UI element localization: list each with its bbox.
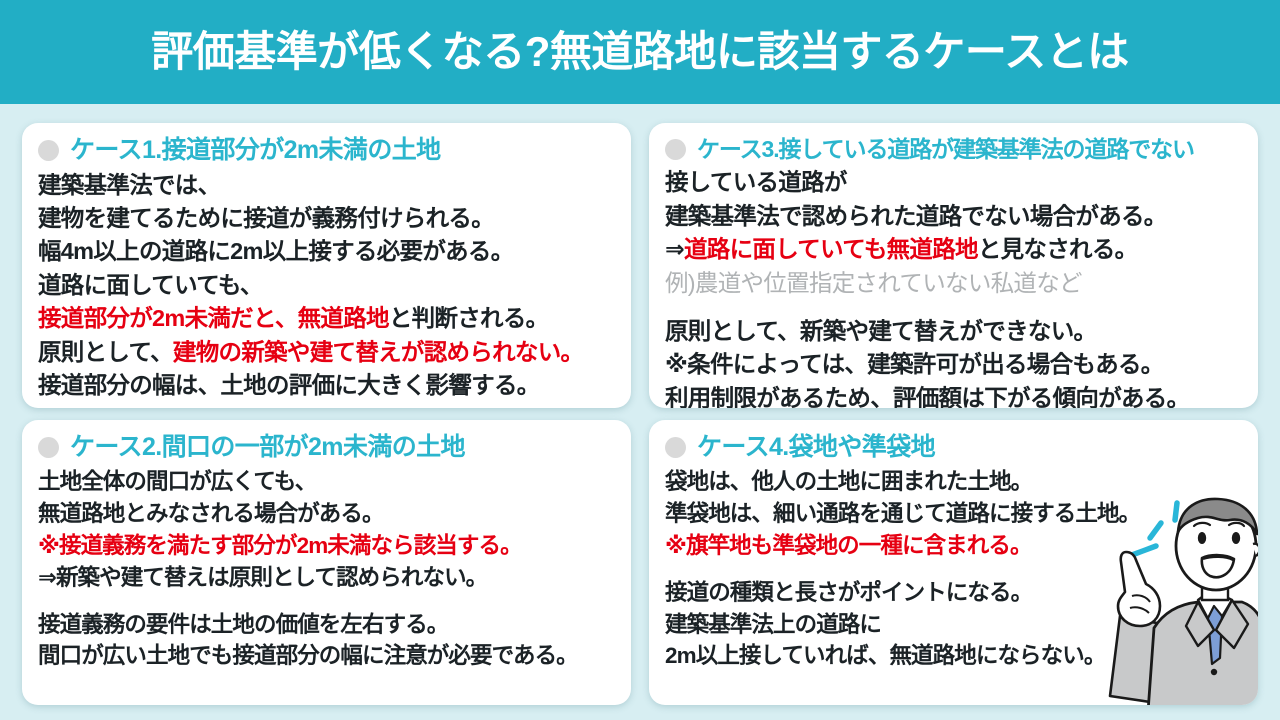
text-run: 幅4m以上の道路に2m以上接する必要がある。: [38, 238, 514, 264]
text-line: 準袋地は、細い通路を通じて道路に接する土地。: [665, 498, 1242, 530]
text-run: 準袋地は、細い通路を通じて道路に接する土地。: [665, 501, 1140, 526]
text-line: ※旗竿地も準袋地の一種に含まれる。: [665, 530, 1242, 562]
paragraph: 接している道路が 建築基準法で認められた道路でない場合がある。 ⇒道路に面してい…: [665, 166, 1242, 299]
case-card-2: ケース2.間口の一部が2m未満の土地 土地全体の間口が広くても、 無道路地とみな…: [22, 420, 631, 705]
card-body-2: 土地全体の間口が広くても、 無道路地とみなされる場合がある。 ※接道義務を満たす…: [38, 466, 615, 673]
card-title-1: ケース1.接道部分が2m未満の土地: [70, 136, 441, 165]
text-run-highlight: 道路に面していても無道路地: [684, 236, 978, 262]
text-run: 原則として、: [38, 339, 173, 365]
text-run: 道路に面していても、: [38, 272, 263, 298]
text-line: 接している道路が: [665, 166, 1242, 199]
case-card-1: ケース1.接道部分が2m未満の土地 建築基準法では、 建物を建てるために接道が義…: [22, 123, 631, 408]
text-run: 原則として、新築や建て替えができない。: [665, 318, 1096, 344]
filled-circle-icon: [38, 437, 59, 458]
text-run: 間口が広い土地でも接道部分の幅に注意が必要である。: [38, 643, 578, 668]
text-run: 無道路地とみなされる場合がある。: [38, 501, 384, 526]
text-run-highlight: 建物の新築や建て替えが認められない。: [173, 339, 583, 365]
text-line: 建物を建てるために接道が義務付けられる。: [38, 202, 615, 235]
card-heading-4: ケース4.袋地や準袋地: [665, 433, 1242, 462]
slide-root: 評価基準が低くなる?無道路地に該当するケースとは ケース1.接道部分が2m未満の…: [0, 0, 1280, 720]
text-run: と見なされる。: [978, 236, 1138, 262]
text-run: ※条件によっては、建築許可が出る場合もある。: [665, 351, 1164, 377]
card-heading-2: ケース2.間口の一部が2m未満の土地: [38, 433, 615, 462]
text-run-highlight: ※旗竿地も準袋地の一種に含まれる。: [665, 533, 1032, 558]
text-line: 原則として、建物の新築や建て替えが認められない。: [38, 336, 615, 369]
text-line: 接道部分の幅は、土地の評価に大きく影響する。: [38, 369, 615, 402]
text-run: 建物を建てるために接道が義務付けられる。: [38, 205, 494, 231]
page-title: 評価基準が低くなる?無道路地に該当するケースとは: [151, 29, 1129, 75]
text-run: ⇒新築や建て替えは原則として認められない。: [38, 565, 487, 590]
text-line: ※接道義務を満たす部分が2m未満なら該当する。: [38, 530, 615, 562]
text-line: 接道義務の要件は土地の価値を左右する。: [38, 609, 615, 641]
text-line: ⇒新築や建て替えは原則として認められない。: [38, 562, 615, 594]
text-line: 建築基準法で認められた道路でない場合がある。: [665, 200, 1242, 233]
card-body-4: 袋地は、他人の土地に囲まれた土地。 準袋地は、細い通路を通じて道路に接する土地。…: [665, 466, 1242, 673]
text-run: ⇒: [665, 236, 684, 262]
text-run: 土地全体の間口が広くても、: [38, 469, 316, 494]
text-run-muted: 例)農道や位置指定されていない私道など: [665, 270, 1082, 296]
card-body-3: 接している道路が 建築基準法で認められた道路でない場合がある。 ⇒道路に面してい…: [665, 166, 1242, 408]
ear: [1253, 544, 1258, 556]
text-run: 建築基準法上の道路に: [665, 612, 881, 637]
text-run: 接している道路が: [665, 169, 847, 195]
text-line: 無道路地とみなされる場合がある。: [38, 498, 615, 530]
paragraph: 接道の種類と長さがポイントになる。 建築基準法上の道路に 2m以上接していれば、…: [665, 577, 1242, 673]
paragraph: 土地全体の間口が広くても、 無道路地とみなされる場合がある。 ※接道義務を満たす…: [38, 466, 615, 594]
text-line: 道路に面していても、: [38, 269, 615, 302]
text-run: 接道部分の幅は、土地の評価に大きく影響する。: [38, 372, 540, 398]
text-run: 接道義務の要件は土地の価値を左右する。: [38, 612, 448, 637]
card-title-2: ケース2.間口の一部が2m未満の土地: [70, 433, 465, 462]
card-title-3: ケース3.接している道路が建築基準法の道路でない: [697, 136, 1194, 162]
text-run: 建築基準法では、: [38, 172, 220, 198]
text-line: ⇒道路に面していても無道路地と見なされる。: [665, 233, 1242, 266]
text-line: 接道の種類と長さがポイントになる。: [665, 577, 1242, 609]
text-line: 接道部分が2m未満だと、無道路地と判断される。: [38, 302, 615, 335]
case-card-grid: ケース1.接道部分が2m未満の土地 建築基準法では、 建物を建てるために接道が義…: [0, 104, 1280, 720]
paragraph: 建築基準法では、 建物を建てるために接道が義務付けられる。 幅4m以上の道路に2…: [38, 169, 615, 403]
text-run-highlight: ※接道義務を満たす部分が2m未満なら該当する。: [38, 533, 522, 558]
text-line: 建築基準法上の道路に: [665, 609, 1242, 641]
text-run-highlight: 接道部分が2m未満だと、無道路地: [38, 305, 389, 331]
text-run: 接道の種類と長さがポイントになる。: [665, 580, 1032, 605]
text-line: 間口が広い土地でも接道部分の幅に注意が必要である。: [38, 640, 615, 672]
text-line: 利用制限があるため、評価額は下がる傾向がある。: [665, 382, 1242, 408]
case-card-4: ケース4.袋地や準袋地 袋地は、他人の土地に囲まれた土地。 準袋地は、細い通路を…: [649, 420, 1258, 705]
card-title-4: ケース4.袋地や準袋地: [697, 433, 935, 462]
text-line: 袋地は、他人の土地に囲まれた土地。: [665, 466, 1242, 498]
card-body-1: 建築基準法では、 建物を建てるために接道が義務付けられる。 幅4m以上の道路に2…: [38, 169, 615, 403]
text-line: 原則として、新築や建て替えができない。: [665, 315, 1242, 348]
filled-circle-icon: [665, 437, 686, 458]
case-card-3: ケース3.接している道路が建築基準法の道路でない 接している道路が 建築基準法で…: [649, 123, 1258, 408]
text-run: と判断される。: [389, 305, 549, 331]
card-heading-3: ケース3.接している道路が建築基準法の道路でない: [665, 136, 1242, 162]
text-run: 2m以上接していれば、無道路地にならない。: [665, 643, 1105, 668]
filled-circle-icon: [38, 140, 59, 161]
text-line: 建築基準法では、: [38, 169, 615, 202]
text-line: ※条件によっては、建築許可が出る場合もある。: [665, 348, 1242, 381]
paragraph: 接道義務の要件は土地の価値を左右する。 間口が広い土地でも接道部分の幅に注意が必…: [38, 609, 615, 673]
filled-circle-icon: [665, 139, 686, 160]
card-heading-1: ケース1.接道部分が2m未満の土地: [38, 136, 615, 165]
text-run: 利用制限があるため、評価額は下がる傾向がある。: [665, 385, 1189, 408]
paragraph: 袋地は、他人の土地に囲まれた土地。 準袋地は、細い通路を通じて道路に接する土地。…: [665, 466, 1242, 562]
text-run: 建築基準法で認められた道路でない場合がある。: [665, 203, 1167, 229]
text-run: 袋地は、他人の土地に囲まれた土地。: [665, 469, 1032, 494]
text-line: 2m以上接していれば、無道路地にならない。: [665, 640, 1242, 672]
slide-header: 評価基準が低くなる?無道路地に該当するケースとは: [0, 0, 1280, 104]
paragraph: 原則として、新築や建て替えができない。 ※条件によっては、建築許可が出る場合もあ…: [665, 315, 1242, 408]
text-line: 例)農道や位置指定されていない私道など: [665, 267, 1242, 300]
text-line: 幅4m以上の道路に2m以上接する必要がある。: [38, 235, 615, 268]
text-line: 土地全体の間口が広くても、: [38, 466, 615, 498]
